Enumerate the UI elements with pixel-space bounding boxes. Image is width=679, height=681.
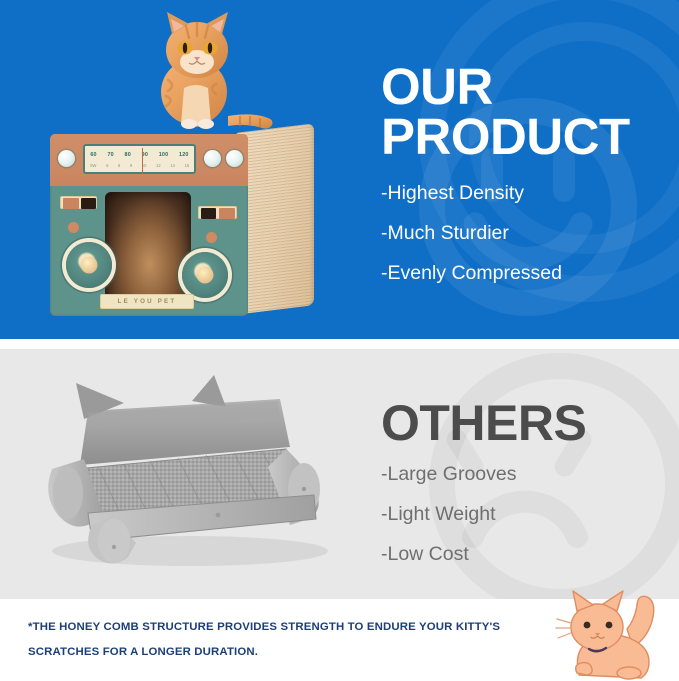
radio-dial: 60 70 80 90 100 120 SW 6 8 <box>83 144 196 174</box>
others-bullet-list: -Large Grooves -Light Weight -Low Cost <box>381 464 671 564</box>
tape-deck-window <box>201 208 216 219</box>
dial-number-sw: 16 <box>185 163 190 168</box>
footer-note-line1: *THE HONEY COMB STRUCTURE PROVIDES STREN… <box>28 615 588 640</box>
boombox-button-right <box>206 232 217 243</box>
boombox-top-band: 60 70 80 90 100 120 SW 6 8 <box>50 134 248 186</box>
speaker-cone <box>81 257 98 274</box>
dial-number-sw: 12 <box>156 163 161 168</box>
our-product-bullet: -Highest Density <box>381 183 671 203</box>
tape-deck-accent <box>63 198 79 209</box>
speaker-cone <box>197 267 214 284</box>
dial-number: 100 <box>159 152 169 158</box>
our-product-heading-line2: PRODUCT <box>381 112 671 162</box>
our-product-text-block: OUR PRODUCT -Highest Density -Much Sturd… <box>381 62 671 303</box>
infographic-page: 60 70 80 90 100 120 SW 6 8 <box>0 0 679 679</box>
dial-number: 80 <box>125 152 131 158</box>
boombox-knob-left <box>58 150 75 167</box>
orange-tabby-cat-photo <box>136 8 276 130</box>
our-product-image: 60 70 80 90 100 120 SW 6 8 <box>18 0 348 339</box>
dial-frequency-row-top: 60 70 80 90 100 120 <box>85 149 194 160</box>
dial-number-sw: 9 <box>130 163 132 168</box>
dial-number-sw: 8 <box>118 163 120 168</box>
boombox-knob-right-a <box>204 150 221 167</box>
dial-number: 60 <box>90 152 96 158</box>
boombox-speaker-right <box>182 252 228 298</box>
tape-deck-left <box>60 196 97 209</box>
gray-cat-lounge-scratcher <box>28 373 348 573</box>
dial-number-sw: 14 <box>170 163 175 168</box>
dial-number-sw: 10 <box>142 163 147 168</box>
our-product-bullet-list: -Highest Density -Much Sturdier -Evenly … <box>381 183 671 283</box>
others-heading: OTHERS <box>381 398 671 448</box>
our-product-bullet: -Much Sturdier <box>381 223 671 243</box>
our-product-bullet: -Evenly Compressed <box>381 263 671 283</box>
boombox-front-face: 60 70 80 90 100 120 SW 6 8 <box>50 134 248 316</box>
boombox-speaker-left <box>66 242 112 288</box>
footer-note: *THE HONEY COMB STRUCTURE PROVIDES STREN… <box>28 615 588 665</box>
footer-bar: *THE HONEY COMB STRUCTURE PROVIDES STREN… <box>0 599 679 679</box>
others-bullet: -Low Cost <box>381 544 671 564</box>
dial-frequency-row-bottom: SW 6 8 9 10 12 14 16 <box>85 161 194 170</box>
dial-number-sw: 6 <box>106 163 108 168</box>
dial-number: 120 <box>179 152 189 158</box>
our-product-heading-line1: OUR <box>381 62 671 112</box>
boombox-button-left <box>68 222 79 233</box>
cartoon-cat-mascot-icon <box>555 589 673 681</box>
tape-deck-accent <box>219 208 235 219</box>
tape-deck-right <box>198 206 237 219</box>
tape-deck-window <box>81 198 96 209</box>
brand-plate: LE YOU PET <box>100 294 194 309</box>
others-bullet: -Large Grooves <box>381 464 671 484</box>
boombox-cat-house: 60 70 80 90 100 120 SW 6 8 <box>50 126 308 321</box>
cat-house-entrance <box>105 192 191 308</box>
footer-note-line2: SCRATCHES FOR A LONGER DURATION. <box>28 640 588 665</box>
others-product-image <box>28 373 348 573</box>
our-product-panel: 60 70 80 90 100 120 SW 6 8 <box>0 0 679 339</box>
boombox-knob-right-b <box>226 150 243 167</box>
others-bullet: -Light Weight <box>381 504 671 524</box>
others-text-block: OTHERS -Large Grooves -Light Weight -Low… <box>381 398 671 584</box>
dial-number: 70 <box>107 152 113 158</box>
brand-plate-label: LE YOU PET <box>118 298 177 305</box>
dial-number-sw: SW <box>90 163 97 168</box>
